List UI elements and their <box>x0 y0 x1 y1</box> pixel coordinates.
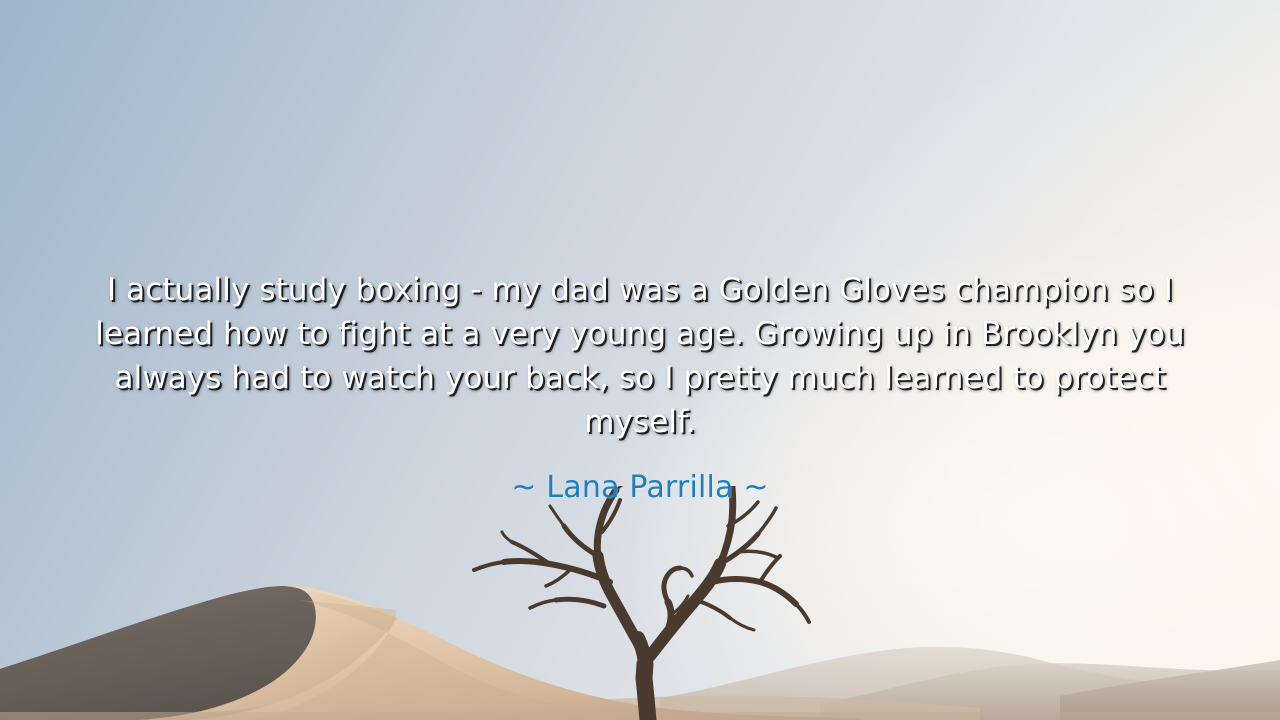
dead-tree <box>452 486 832 720</box>
quote-image: I actually study boxing - my dad was a G… <box>0 0 1280 720</box>
